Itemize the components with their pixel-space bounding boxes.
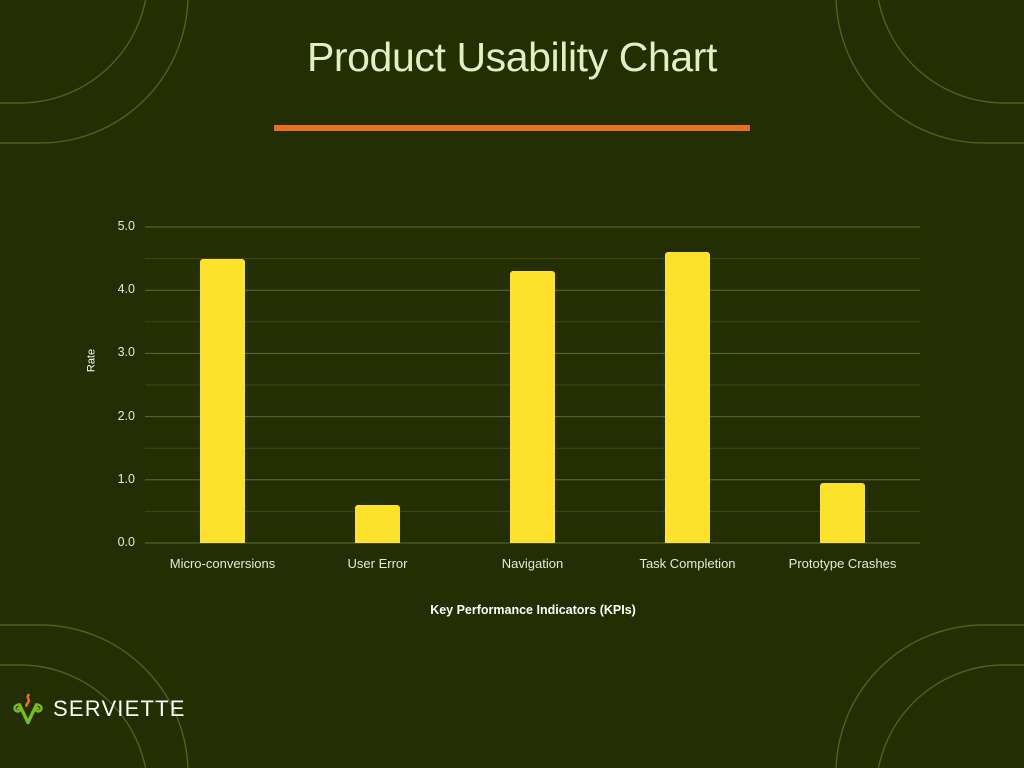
slide-canvas: Product Usability Chart 0.01.02.03.04.05… bbox=[0, 0, 1024, 768]
x-axis-category-label: Prototype Crashes bbox=[733, 557, 953, 570]
bar bbox=[510, 271, 555, 543]
bar bbox=[355, 505, 400, 543]
y-axis-title: Rate bbox=[87, 331, 98, 391]
y-axis-tick-label: 1.0 bbox=[95, 473, 135, 486]
y-axis-tick-label: 2.0 bbox=[95, 410, 135, 423]
serviette-logo-icon bbox=[10, 692, 46, 726]
y-axis-tick-label: 4.0 bbox=[95, 283, 135, 296]
bar bbox=[665, 252, 710, 543]
y-axis-tick-label: 0.0 bbox=[95, 536, 135, 549]
brand-name: SERVIETTE bbox=[53, 698, 186, 720]
y-axis-tick-label: 3.0 bbox=[95, 346, 135, 359]
bar bbox=[820, 483, 865, 543]
y-axis-tick-label: 5.0 bbox=[95, 220, 135, 233]
bar bbox=[200, 259, 245, 543]
bar-chart: 0.01.02.03.04.05.0 Micro-conversionsUser… bbox=[0, 0, 1024, 768]
brand-logo: SERVIETTE bbox=[10, 692, 186, 726]
x-axis-title: Key Performance Indicators (KPIs) bbox=[145, 604, 921, 617]
